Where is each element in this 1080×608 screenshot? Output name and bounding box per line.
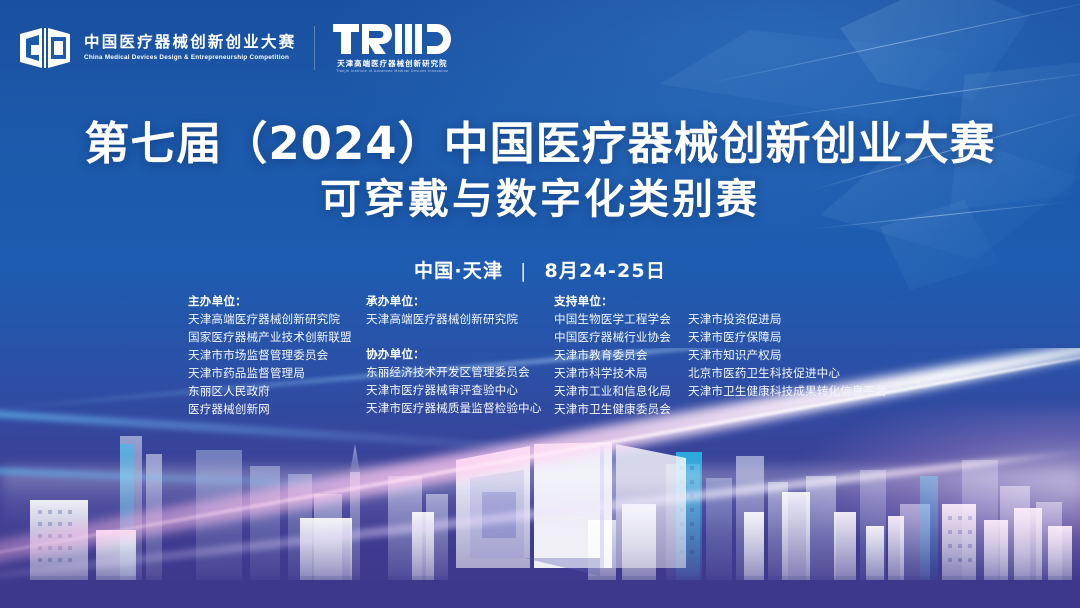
ground-haze — [0, 468, 1080, 538]
organizers-column-undertaker: 承办单位： 天津高端医疗器械创新研究院 协办单位： 东丽经济技术开发区管理委员会… — [366, 292, 554, 417]
organizer-group: 协办单位： 东丽经济技术开发区管理委员会 天津市医疗器械审评查验中心 天津市医疗… — [366, 345, 554, 417]
competition-logo: 中国医疗器械创新创业大赛 China Medical Devices Desig… — [18, 24, 296, 72]
organizers-column-supporters: 支持单位： 中国生物医学工程学会 中国医疗器械行业协会 天津市教育委员会 天津市… — [554, 292, 887, 418]
trmd-wordmark-icon — [333, 22, 451, 56]
organizer-item: 天津市投资促进局 — [688, 310, 887, 328]
organizers-block: 主办单位： 天津高端医疗器械创新研究院 国家医疗器械产业技术创新联盟 天津市市场… — [188, 292, 918, 418]
organizer-item: 天津市卫生健康科技成果转化信息平台 — [688, 382, 887, 400]
poster-title: 第七届（2024）中国医疗器械创新创业大赛 可穿戴与数字化类别赛 — [0, 116, 1080, 226]
organizer-item: 天津市教育委员会 — [554, 346, 688, 364]
institute-logo: 天津高端医疗器械创新研究院 Tianjin Institute of Advan… — [333, 22, 451, 74]
institute-logo-en: Tianjin Institute of Advanced Medical De… — [336, 70, 449, 73]
organizers-column-host: 主办单位： 天津高端医疗器械创新研究院 国家医疗器械产业技术创新联盟 天津市市场… — [188, 292, 366, 418]
city-skyline-illustration — [0, 408, 1080, 608]
light-glow — [780, 408, 1080, 578]
organizer-item: 天津市医疗器械质量监督检验中心 — [366, 399, 554, 417]
group-heading: 承办单位： — [366, 292, 554, 310]
poster-canvas: 中国医疗器械创新创业大赛 China Medical Devices Desig… — [0, 0, 1080, 608]
event-meta: 中国·天津 | 8月24-25日 — [0, 256, 1080, 283]
organizer-item: 国家医疗器械产业技术创新联盟 — [188, 328, 366, 346]
group-heading: 主办单位： — [188, 292, 366, 310]
open-door-book-mark-icon — [18, 24, 74, 72]
organizer-item: 天津高端医疗器械创新研究院 — [188, 310, 366, 328]
event-dates: 8月24-25日 — [544, 260, 666, 282]
organizer-item: 天津市药品监督管理局 — [188, 364, 366, 382]
logo-divider — [314, 26, 315, 70]
organizer-item: 东丽经济技术开发区管理委员会 — [366, 363, 554, 381]
title-line-2: 可穿戴与数字化类别赛 — [0, 172, 1080, 226]
supporters-sublist-left: 中国生物医学工程学会 中国医疗器械行业协会 天津市教育委员会 天津市科学技术局 … — [554, 310, 688, 418]
supporters-sublist-right: 天津市投资促进局 天津市医疗保障局 天津市知识产权局 北京市医药卫生科技促进中心… — [688, 310, 887, 418]
organizer-item: 天津高端医疗器械创新研究院 — [366, 310, 554, 328]
organizer-item: 天津市知识产权局 — [688, 346, 887, 364]
organizer-item: 天津市医疗保障局 — [688, 328, 887, 346]
open-door-monument-icon — [456, 442, 686, 576]
organizer-item: 东丽区人民政府 — [188, 382, 366, 400]
competition-logo-cn: 中国医疗器械创新创业大赛 — [84, 35, 296, 51]
organizer-item: 医疗器械创新网 — [188, 400, 366, 418]
header-logos: 中国医疗器械创新创业大赛 China Medical Devices Desig… — [18, 22, 451, 74]
organizer-group: 承办单位： 天津高端医疗器械创新研究院 — [366, 292, 554, 328]
group-heading: 支持单位： — [554, 292, 887, 310]
institute-logo-cn: 天津高端医疗器械创新研究院 — [337, 60, 447, 67]
organizer-item: 天津市卫生健康委员会 — [554, 400, 688, 418]
group-heading: 协办单位： — [366, 345, 554, 363]
cyan-streak — [0, 460, 570, 498]
organizer-item: 中国生物医学工程学会 — [554, 310, 688, 328]
organizer-item: 天津市工业和信息化局 — [554, 382, 688, 400]
organizer-group: 主办单位： 天津高端医疗器械创新研究院 国家医疗器械产业技术创新联盟 天津市市场… — [188, 292, 366, 418]
organizer-item: 中国医疗器械行业协会 — [554, 328, 688, 346]
title-line-1: 第七届（2024）中国医疗器械创新创业大赛 — [0, 116, 1080, 172]
organizer-item: 天津市科学技术局 — [554, 364, 688, 382]
event-location: 中国·天津 — [414, 260, 503, 282]
white-streak — [0, 445, 1080, 596]
organizer-item: 北京市医药卫生科技促进中心 — [688, 364, 887, 382]
competition-logo-en: China Medical Devices Design & Entrepren… — [84, 55, 301, 61]
meta-separator: | — [520, 260, 528, 282]
organizer-item: 天津市医疗器械审评查验中心 — [366, 381, 554, 399]
organizer-item: 天津市市场监督管理委员会 — [188, 346, 366, 364]
